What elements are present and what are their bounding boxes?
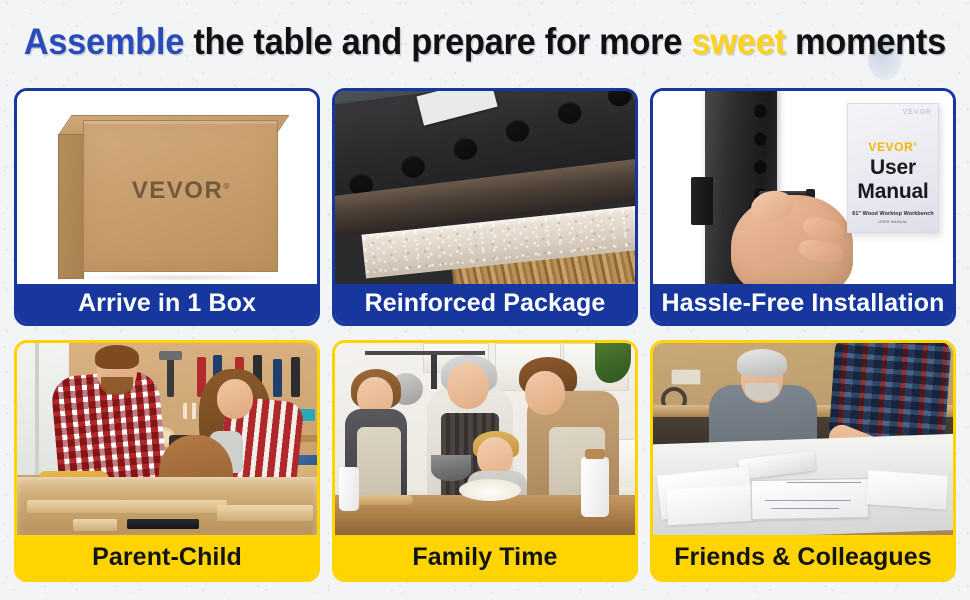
window-frame [35,343,39,475]
package-label [417,91,498,126]
rail-hole [400,154,427,179]
workshop-meeting-scene [653,343,953,535]
seated-man-beard [745,383,779,401]
milk-jug [339,467,359,511]
feature-card-reinforced-package[interactable]: Reinforced Package [332,88,638,326]
card-image-reinforced-package [335,91,635,284]
card-caption-hassle-free-installation: Hassle-Free Installation [653,284,953,323]
headline-tail-text: moments [795,21,946,62]
kitchen-scene [335,343,635,535]
hand-saw [127,519,199,529]
card-caption-parent-child: Parent-Child [17,535,317,579]
pliers-on-wall [273,359,282,397]
mother-head [217,379,253,419]
page-headline: Assemble the table and prepare for more … [0,0,970,84]
manual-subtitle-2: USER MANUAL [848,220,938,224]
card-image-friends-colleagues [653,343,953,535]
grandmother-head [447,363,489,409]
rail-hole [556,100,583,125]
card-image-parent-child [17,343,317,535]
headline-middle-text: the table and prepare for more [194,21,683,62]
blueprint-sheet [666,485,756,526]
vevor-logo-on-manual: VEVOR® [848,140,938,154]
reinforced-package-illustration [335,91,635,284]
leg-hole [754,131,767,146]
headline-word-assemble: Assemble [24,21,184,62]
wood-plank [27,500,227,513]
manual-watermark-logo: VEVOR [902,109,932,116]
hammer-head [159,351,182,360]
manual-subtitle: 61" Wood Worktop Workbench [848,211,938,217]
manual-title-line-2: Manual [848,182,938,202]
flour-dough [459,479,521,501]
manual-title-line-1: User [848,158,938,178]
rail-hole [452,136,479,161]
milk-bottle [581,457,609,517]
feature-card-family-time[interactable]: Family Time [332,340,638,582]
feature-card-hassle-free-installation[interactable]: VEVOR VEVOR® User Manual 61" Wood Workto… [650,88,956,326]
pliers-on-wall [291,357,300,397]
mixing-bowl [431,455,471,481]
feature-card-friends-colleagues[interactable]: Friends & Colleagues [650,340,956,582]
feature-card-parent-child[interactable]: Parent-Child [14,340,320,582]
workshop-scene [17,343,317,535]
blueprint-sheet [866,470,948,509]
mother-head [525,371,565,415]
card-caption-friends-colleagues: Friends & Colleagues [653,535,953,579]
blueprint-sheet [751,478,870,520]
headline-word-sweet: sweet [692,21,786,62]
card-image-arrive-in-1-box: VEVOR® [17,91,317,284]
seated-man-hair [737,349,787,377]
cardboard-box-illustration: VEVOR® [17,91,317,284]
father-hair [95,345,139,369]
card-image-hassle-free-installation: VEVOR VEVOR® User Manual 61" Wood Workto… [653,91,953,284]
card-image-family-time [335,343,635,535]
father-beard [101,377,133,395]
rolling-pin [353,495,413,505]
wood-block [73,519,117,531]
box-drop-shadow [77,274,282,281]
card-caption-arrive-in-1-box: Arrive in 1 Box [17,284,317,323]
leg-hole [754,103,767,118]
card-caption-reinforced-package: Reinforced Package [335,284,635,323]
blueprint-line [787,482,861,483]
blueprint-line [765,500,851,501]
girl-apron [357,427,401,499]
wall-outlet [671,369,701,385]
rail-hole [504,118,531,143]
card-caption-family-time: Family Time [335,535,635,579]
leg-hole [754,159,767,174]
box-side-face [58,134,84,279]
milk-bottle-cap [585,449,605,459]
hanging-utensil [431,355,437,389]
installation-illustration: VEVOR VEVOR® User Manual 61" Wood Workto… [653,91,953,284]
feature-card-arrive-in-1-box[interactable]: VEVOR® Arrive in 1 Box [14,88,320,326]
leg-bracket [691,177,713,225]
vevor-logo-on-box: VEVOR® [84,177,277,205]
feature-card-grid: VEVOR® Arrive in 1 Box [0,88,970,592]
wood-plank [217,505,313,521]
box-front-face: VEVOR® [83,120,278,272]
blueprint-line [771,508,839,509]
user-manual-booklet: VEVOR VEVOR® User Manual 61" Wood Workto… [847,103,939,233]
rail-hole [606,91,633,108]
